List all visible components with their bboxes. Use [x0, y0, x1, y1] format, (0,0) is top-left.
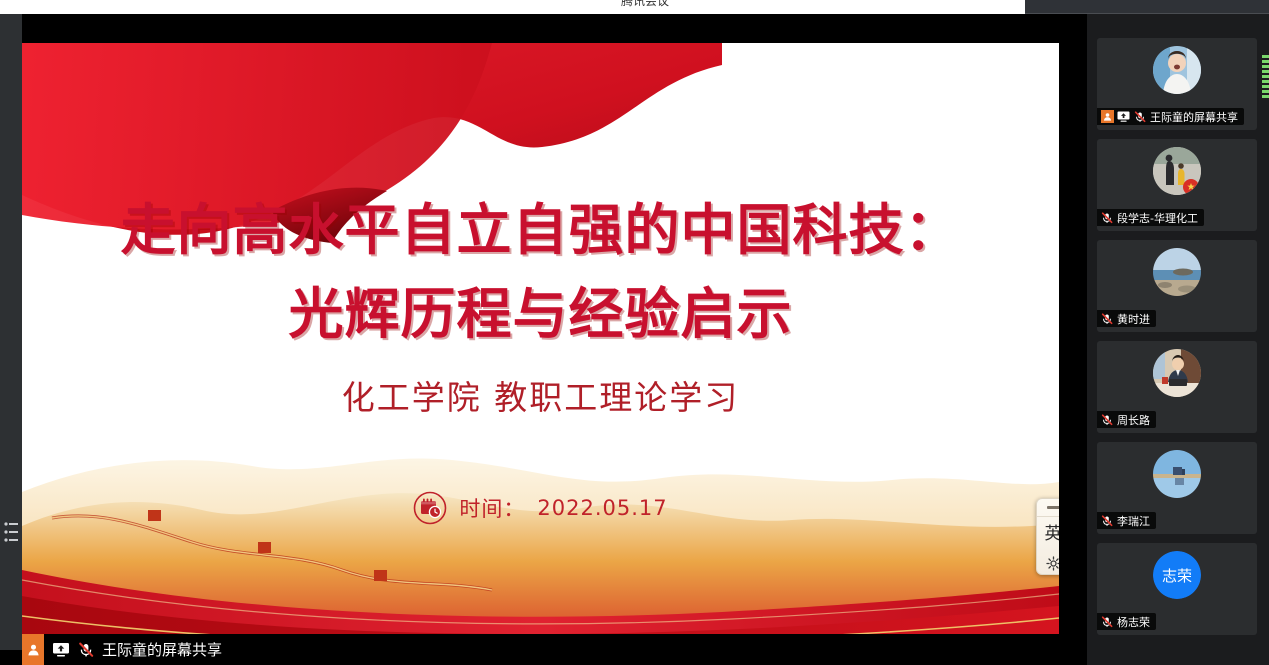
participant-name-strip: 段学志-华理化工 — [1097, 209, 1204, 226]
host-badge-icon — [1101, 110, 1114, 123]
participant-name: 段学志-华理化工 — [1117, 210, 1198, 226]
host-badge-icon — [22, 634, 44, 665]
screen-share-status-bar: 王际童的屏幕共享 — [22, 634, 1059, 665]
participant-name-strip: 杨志荣 — [1097, 613, 1156, 630]
ime-collapse-handle[interactable] — [1037, 499, 1059, 517]
slide-date-row: 时间： 2022.05.17 — [22, 491, 1059, 525]
avatar — [1153, 147, 1201, 195]
participant-name: 杨志荣 — [1117, 614, 1150, 630]
left-gutter — [0, 14, 22, 650]
participant-tile[interactable]: 李瑞江 — [1097, 442, 1257, 534]
participant-tile[interactable]: 段学志-华理化工 — [1097, 139, 1257, 231]
mic-muted-icon — [1101, 212, 1113, 224]
mic-muted-icon — [1101, 414, 1113, 426]
participant-tile[interactable]: 周长路 — [1097, 341, 1257, 433]
participant-name-strip: 王际童的屏幕共享 — [1097, 108, 1244, 125]
participant-rail[interactable]: 王际童的屏幕共享 — [1087, 14, 1269, 665]
participant-name: 周长路 — [1117, 412, 1150, 428]
presentation-slide: 走向高水平自立自强的中国科技： 光辉历程与经验启示 化工学院 教职工理论学习 — [22, 43, 1059, 645]
mic-muted-icon — [78, 642, 94, 658]
ime-mode-button[interactable]: 英 — [1045, 517, 1060, 552]
participant-name: 王际童的屏幕共享 — [1150, 109, 1238, 125]
participant-tile[interactable]: 志荣 杨志荣 — [1097, 543, 1257, 635]
window-titlebar — [1025, 0, 1269, 14]
screen-share-owner-label: 王际童的屏幕共享 — [102, 639, 222, 660]
ime-floating-toolbar[interactable]: 英 — [1036, 498, 1059, 575]
mic-muted-icon — [1134, 111, 1146, 123]
screen-share-icon — [52, 642, 70, 657]
slide-title-block: 走向高水平自立自强的中国科技： 光辉历程与经验启示 化工学院 教职工理论学习 — [22, 193, 1059, 419]
participant-name: 李瑞江 — [1117, 513, 1150, 529]
participant-name-strip: 周长路 — [1097, 411, 1156, 428]
avatar-initials: 志荣 — [1153, 551, 1201, 599]
screen-share-icon — [1117, 111, 1130, 122]
tencent-meeting-window: 腾讯会议 — [0, 0, 1269, 665]
avatar — [1153, 450, 1201, 498]
participant-name-strip: 黄时进 — [1097, 310, 1156, 327]
slide-date-value: 2022.05.17 — [537, 496, 667, 520]
mic-muted-icon — [1101, 616, 1113, 628]
participant-name: 黄时进 — [1117, 311, 1150, 327]
shared-screen-stage[interactable]: 走向高水平自立自强的中国科技： 光辉历程与经验启示 化工学院 教职工理论学习 — [22, 14, 1059, 665]
participant-name-strip: 李瑞江 — [1097, 512, 1156, 529]
slide-title-line-2: 光辉历程与经验启示 — [22, 277, 1059, 351]
participant-list-icon[interactable] — [3, 519, 20, 545]
avatar: 志荣 — [1153, 551, 1201, 599]
avatar — [1153, 46, 1201, 94]
great-wall-scenery-decoration — [22, 430, 1059, 645]
gear-icon[interactable] — [1037, 552, 1059, 574]
slide-title-line-1: 走向高水平自立自强的中国科技： — [22, 193, 1059, 267]
mic-muted-icon — [1101, 313, 1113, 325]
calendar-clock-icon — [413, 491, 447, 525]
participant-tile[interactable]: 王际童的屏幕共享 — [1097, 38, 1257, 130]
vertical-scrollbar-track[interactable] — [1263, 14, 1269, 665]
avatar — [1153, 248, 1201, 296]
avatar — [1153, 349, 1201, 397]
participant-tile[interactable]: 黄时进 — [1097, 240, 1257, 332]
mic-muted-icon — [1101, 515, 1113, 527]
slide-date-label: 时间： — [459, 493, 525, 523]
slide-subtitle: 化工学院 教职工理论学习 — [22, 371, 1059, 419]
app-title: 腾讯会议 — [600, 0, 690, 9]
